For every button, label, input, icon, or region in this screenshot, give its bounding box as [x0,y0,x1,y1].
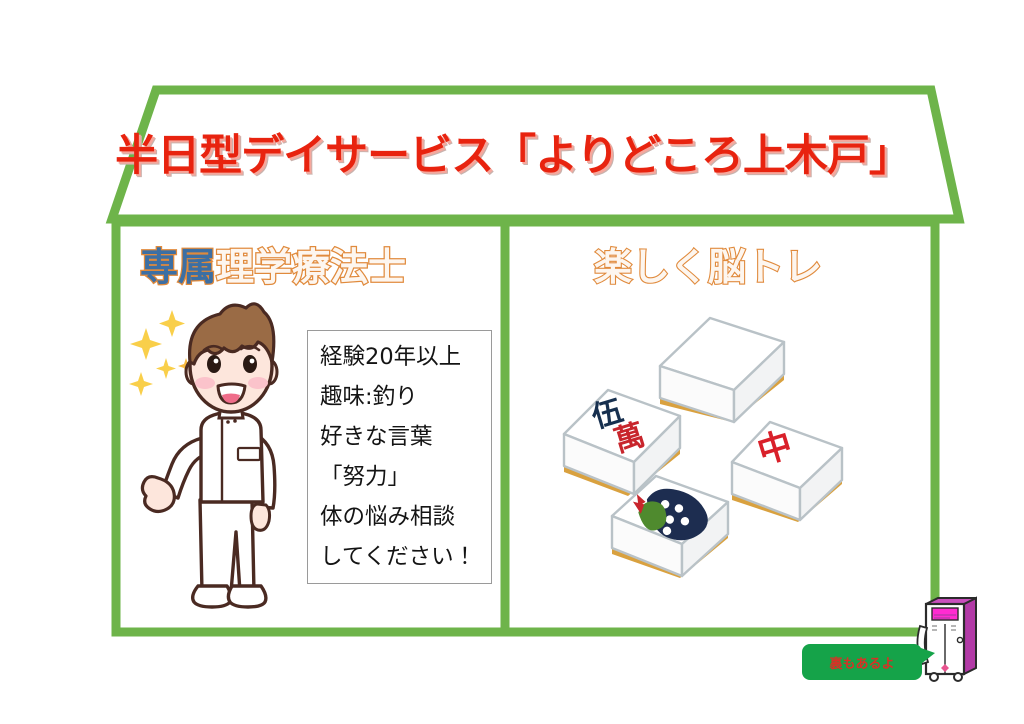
button-2 [233,419,237,423]
left-panel-heading: 専属理学療法士 [140,236,480,284]
eye-left-highlight [214,359,219,364]
cheek-left [195,377,215,389]
tile-blank [660,318,784,422]
bubble-tail-icon [921,648,935,664]
right-panel-heading: 楽しく脳トレ [594,236,924,284]
badge-label: 裏もあるよ [829,653,894,672]
shoe-right [228,586,266,607]
eye-right-highlight [250,359,255,364]
mahjong-tiles-illustration: 伍 萬 中 [556,306,856,602]
profile-line: 「努力」 [320,457,491,497]
eye-right [243,355,257,373]
poster-canvas: 半日型デイサービス「よりどころ上木戸」 専属理学療法士 楽しく脳トレ [0,0,1024,724]
machine-wheel-left [930,673,938,681]
hand-icon [251,504,270,530]
profile-line: 体の悩み相談 [320,497,491,537]
therapist-profile-box: 経験20年以上 趣味:釣り 好きな言葉 「努力」 体の悩み相談 してください！ [307,330,492,584]
badge-bubble[interactable]: 裏もあるよ [802,644,922,680]
eye-left [207,355,221,373]
machine-wheel-right [954,673,962,681]
button-1 [226,420,230,424]
physical-therapist-illustration [128,300,318,632]
profile-line: 趣味:釣り [320,377,491,417]
shoe-left [193,586,231,607]
page-title: 半日型デイサービス「よりどころ上木戸」 [118,116,908,188]
left-heading-part2: 理学療法士 [216,245,406,289]
left-heading-part1: 専属 [140,245,216,289]
profile-line: 好きな言葉 [320,417,491,457]
tile-red-dragon: 中 [732,422,842,522]
machine-side [964,598,976,674]
machine-handle [957,637,962,642]
profile-line: 経験20年以上 [320,337,491,377]
sparkle-icons [129,310,194,396]
name-tag [238,448,260,460]
trousers [200,500,254,592]
vending-machine-illustration [916,596,982,684]
profile-line: してください！ [320,537,491,577]
cheek-right [248,377,268,389]
back-side-badge[interactable]: 裏もあるよ [802,644,922,680]
